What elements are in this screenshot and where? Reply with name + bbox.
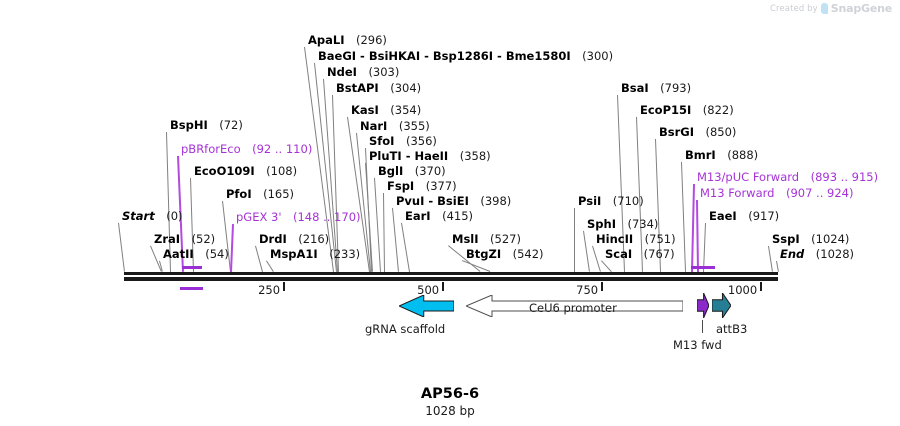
site-name: PluTI	[369, 149, 402, 163]
site-name: M13/pUC Forward	[697, 170, 799, 184]
plasmid-map: Created by SnapGene ApaLI (296)BaeGI - B…	[0, 0, 900, 426]
site-label-bsrgi[interactable]: BsrGI (850)	[659, 126, 736, 138]
site-label-psii[interactable]: PsiI (710)	[578, 195, 644, 207]
plasmid-name: AP56-6	[0, 386, 900, 402]
site-name: BsiHKAI	[369, 49, 420, 63]
leader-line-sphi	[583, 231, 590, 272]
site-name: FspI	[387, 179, 414, 193]
label-separator: -	[356, 49, 369, 63]
snapgene-watermark: Created by SnapGene	[770, 2, 892, 15]
site-label-sfoi[interactable]: SfoI (356)	[369, 135, 437, 147]
site-label-aatii[interactable]: AatII (54)	[163, 248, 229, 260]
site-position: (793)	[649, 81, 691, 95]
bar-pgex3	[180, 287, 203, 290]
site-label-nari[interactable]: NarI (355)	[360, 120, 430, 132]
site-name: ApaLI	[308, 33, 345, 47]
site-position: (888)	[716, 148, 758, 162]
site-label-bsai[interactable]: BsaI (793)	[621, 82, 691, 94]
site-label-baegi[interactable]: BaeGI - BsiHKAI - Bsp1286I - Bme1580I (3…	[318, 50, 613, 62]
ruler-label-1000: 1000	[727, 283, 757, 297]
site-label-apali[interactable]: ApaLI (296)	[308, 34, 387, 46]
site-position: (72)	[208, 118, 243, 132]
site-position: (415)	[431, 209, 473, 223]
site-position: (767)	[632, 247, 674, 261]
site-position: (108)	[255, 164, 297, 178]
bar-pbrforeco	[182, 266, 202, 269]
site-position: (917)	[737, 209, 779, 223]
leader-line-psii	[574, 208, 575, 272]
site-name: NarI	[360, 119, 387, 133]
site-position: (398)	[469, 194, 511, 208]
site-position: (850)	[694, 125, 736, 139]
site-name: Start	[122, 209, 155, 223]
label-separator: -	[493, 49, 506, 63]
site-label-kasi[interactable]: KasI (354)	[351, 104, 421, 116]
site-label-end[interactable]: End (1028)	[780, 248, 854, 260]
site-name: BglI	[378, 164, 403, 178]
site-name: PvuI	[396, 194, 424, 208]
site-name: PfoI	[226, 187, 252, 201]
site-name: EarI	[405, 209, 431, 223]
site-label-pluti[interactable]: PluTI - HaeII (358)	[369, 150, 491, 162]
site-position: (370)	[403, 164, 445, 178]
leader-line-pvui	[392, 208, 399, 272]
ruler-tick-250	[283, 282, 285, 291]
site-name: MspA1I	[270, 247, 318, 261]
site-label-ecop15i[interactable]: EcoP15I (822)	[640, 104, 734, 116]
site-name: BspHI	[170, 118, 208, 132]
site-label-msli[interactable]: MslI (527)	[452, 233, 521, 245]
leader-line-start	[118, 223, 125, 272]
site-label-bsphi[interactable]: BspHI (72)	[170, 119, 243, 131]
site-position: (358)	[448, 149, 490, 163]
feature-arrow-m13-fwd[interactable]	[697, 293, 709, 318]
site-position: (893 .. 915)	[799, 170, 878, 184]
site-name: End	[780, 247, 804, 261]
site-name: Bme1580I	[506, 49, 571, 63]
site-label-zrai[interactable]: ZraI (52)	[154, 233, 215, 245]
site-label-hincii[interactable]: HincII (751)	[596, 233, 676, 245]
leader-line-sspi	[768, 246, 773, 272]
label-separator: -	[420, 49, 433, 63]
site-name: pBRforEco	[181, 142, 241, 156]
site-position: (377)	[414, 179, 456, 193]
site-name: BsaI	[621, 81, 649, 95]
site-name: BsiEI	[437, 194, 469, 208]
site-name: EcoO109I	[194, 164, 255, 178]
leader-line-eaei	[703, 223, 706, 272]
site-position: (52)	[180, 232, 215, 246]
site-name: Bsp1286I	[433, 49, 493, 63]
site-label-eaei[interactable]: EaeI (917)	[709, 210, 779, 222]
site-name: EcoP15I	[640, 103, 691, 117]
site-position: (300)	[571, 49, 613, 63]
feature-label-m13-fwd: M13 fwd	[673, 338, 722, 352]
site-position: (296)	[345, 33, 387, 47]
site-name: BmrI	[685, 148, 716, 162]
leader-line-m13fwdp	[696, 200, 698, 272]
site-name: NdeI	[327, 65, 357, 79]
site-position: (304)	[379, 81, 421, 95]
leader-line-scai	[601, 260, 612, 272]
site-label-pvui[interactable]: PvuI - BsiEI (398)	[396, 195, 511, 207]
feature-arrow-grna-scaffold[interactable]	[399, 295, 454, 317]
site-name: SphI	[587, 217, 616, 231]
leader-line-fspi	[383, 193, 385, 272]
site-position: (216)	[287, 232, 329, 246]
site-label-bstapi[interactable]: BstAPI (304)	[336, 82, 421, 94]
site-label-ecoo109i[interactable]: EcoO109I (108)	[194, 165, 297, 177]
site-label-drdi[interactable]: DrdI (216)	[259, 233, 329, 245]
leader-line-m13puc	[691, 184, 694, 272]
label-separator: -	[402, 149, 415, 163]
leader-line-bgli	[374, 178, 381, 272]
site-label-sphi[interactable]: SphI (734)	[587, 218, 658, 230]
site-position: (1024)	[800, 232, 850, 246]
site-name: HaeII	[414, 149, 448, 163]
leader-line-hincii	[592, 246, 601, 272]
site-position: (356)	[394, 134, 436, 148]
site-position: (1028)	[804, 247, 854, 261]
feature-label-attb3: attB3	[716, 322, 747, 336]
site-position: (527)	[479, 232, 521, 246]
site-label-sspi[interactable]: SspI (1024)	[772, 233, 849, 245]
site-name: PsiI	[578, 194, 601, 208]
site-name: AatII	[163, 247, 194, 261]
leader-line-drdi	[255, 246, 263, 272]
site-label-pbrforeco[interactable]: pBRforEco (92 .. 110)	[181, 143, 312, 155]
site-name: DrdI	[259, 232, 287, 246]
watermark-brand: SnapGene	[831, 2, 892, 15]
site-position: (0)	[155, 209, 183, 223]
site-label-eari[interactable]: EarI (415)	[405, 210, 473, 222]
site-name: BtgZI	[466, 247, 501, 261]
leader-line-bmri	[681, 162, 686, 272]
site-name: ZraI	[154, 232, 180, 246]
site-label-pgex3[interactable]: pGEX 3' (148 .. 170)	[236, 211, 361, 223]
site-position: (751)	[633, 232, 675, 246]
site-name: SfoI	[369, 134, 394, 148]
site-position: (734)	[616, 217, 658, 231]
feature-label-grna-scaffold: gRNA scaffold	[365, 322, 445, 336]
label-separator: -	[424, 194, 437, 208]
site-label-m13fwdp[interactable]: M13 Forward (907 .. 924)	[700, 187, 853, 199]
site-position: (822)	[691, 103, 733, 117]
watermark-created-by: Created by	[770, 4, 818, 14]
feature-arrow-attb3[interactable]	[712, 293, 731, 318]
site-label-btgzi[interactable]: BtgZI (542)	[466, 248, 544, 260]
site-name: MslI	[452, 232, 479, 246]
site-position: (303)	[357, 65, 399, 79]
site-label-start[interactable]: Start (0)	[122, 210, 183, 222]
ruler-tick-500	[442, 282, 444, 291]
site-position: (54)	[194, 247, 229, 261]
site-position: (355)	[387, 119, 429, 133]
site-name: BsrGI	[659, 125, 694, 139]
site-label-fspi[interactable]: FspI (377)	[387, 180, 457, 192]
ruler-tick-1000	[760, 282, 762, 291]
site-position: (710)	[601, 194, 643, 208]
feature-label-ceu6-promoter: CeU6 promoter	[529, 301, 617, 315]
site-label-bmri[interactable]: BmrI (888)	[685, 149, 758, 161]
site-position: (354)	[379, 103, 421, 117]
site-position: (233)	[318, 247, 360, 261]
site-position: (165)	[252, 187, 294, 201]
m13-fwd-connector	[702, 320, 703, 333]
leader-line-pgex3	[230, 224, 233, 272]
leader-line-btgzi	[462, 260, 490, 272]
bar-m13	[691, 266, 715, 269]
site-position: (907 .. 924)	[774, 186, 853, 200]
site-name: HincII	[596, 232, 633, 246]
site-name: SspI	[772, 232, 800, 246]
leader-line-end	[776, 261, 779, 272]
site-position: (148 .. 170)	[282, 210, 361, 224]
ruler-label-250: 250	[250, 283, 280, 297]
site-label-pfoi[interactable]: PfoI (165)	[226, 188, 294, 200]
site-name: BstAPI	[336, 81, 379, 95]
plasmid-backbone-top	[124, 272, 778, 275]
site-label-scai[interactable]: ScaI (767)	[605, 248, 675, 260]
site-label-mspa1i[interactable]: MspA1I (233)	[270, 248, 360, 260]
plasmid-length: 1028 bp	[0, 404, 900, 418]
site-name: EaeI	[709, 209, 737, 223]
site-label-ndei[interactable]: NdeI (303)	[327, 66, 399, 78]
ruler-tick-750	[601, 282, 603, 291]
leader-line-mspa1i	[266, 260, 274, 272]
site-name: M13 Forward	[700, 186, 774, 200]
site-position: (542)	[501, 247, 543, 261]
site-name: ScaI	[605, 247, 632, 261]
site-position: (92 .. 110)	[241, 142, 313, 156]
site-name: BaeGI	[318, 49, 356, 63]
site-label-bgli[interactable]: BglI (370)	[378, 165, 446, 177]
site-label-m13puc[interactable]: M13/pUC Forward (893 .. 915)	[697, 171, 878, 183]
plasmid-backbone-bottom	[124, 277, 778, 281]
leader-line-eari	[401, 223, 410, 272]
site-name: pGEX 3'	[236, 210, 282, 224]
site-name: KasI	[351, 103, 379, 117]
snapgene-logo-icon	[821, 3, 828, 14]
